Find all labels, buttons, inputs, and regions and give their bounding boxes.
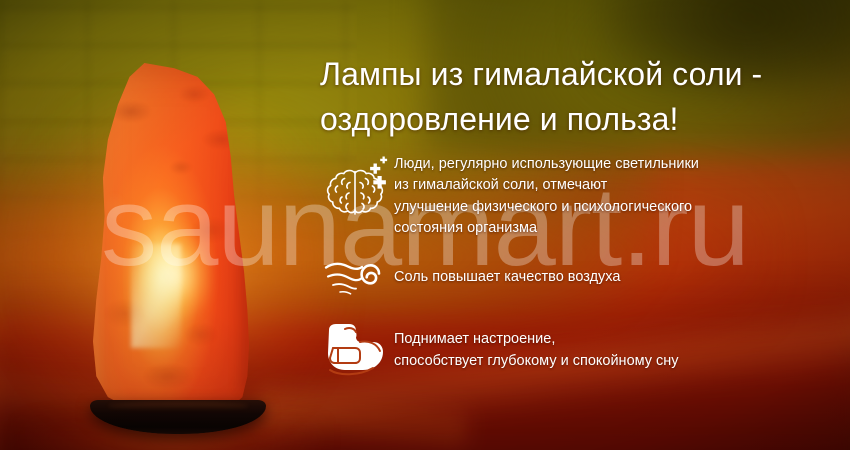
banner-content: Лампы из гималайской соли - оздоровление… xyxy=(0,0,850,450)
feature-line: Соль повышает качество воздуха xyxy=(394,267,620,288)
feature-item-wellbeing: Люди, регулярно использующие светильники… xyxy=(320,152,850,239)
feature-text-wellbeing: Люди, регулярно использующие светильники… xyxy=(394,152,699,239)
feature-line: способствует глубокому и спокойному сну xyxy=(394,351,679,372)
headline-line-1: Лампы из гималайской соли - xyxy=(320,52,840,97)
feature-line: из гималайской соли, отмечают xyxy=(394,175,699,196)
feature-list: Люди, регулярно использующие светильники… xyxy=(320,152,850,401)
feature-item-air-quality: Соль повышает качество воздуха xyxy=(320,253,850,301)
page-title: Лампы из гималайской соли - оздоровление… xyxy=(320,52,840,143)
feature-line: Поднимает настроение, xyxy=(394,329,679,350)
feature-line: улучшение физического и психологического xyxy=(394,197,699,218)
salt-lamp-promo-banner: saunamart.ru Лампы из гималайской соли -… xyxy=(0,0,850,450)
feature-item-sleep: Поднимает настроение, способствует глубо… xyxy=(320,319,850,381)
sleeping-person-icon xyxy=(320,319,394,381)
feature-text-air-quality: Соль повышает качество воздуха xyxy=(394,253,620,288)
feature-line: Люди, регулярно использующие светильники xyxy=(394,154,699,175)
brain-icon xyxy=(320,152,394,226)
headline-line-2: оздоровление и польза! xyxy=(320,97,840,142)
wind-swirl-icon xyxy=(320,253,394,301)
feature-text-sleep: Поднимает настроение, способствует глубо… xyxy=(394,319,679,372)
feature-line: состояния организма xyxy=(394,218,699,239)
